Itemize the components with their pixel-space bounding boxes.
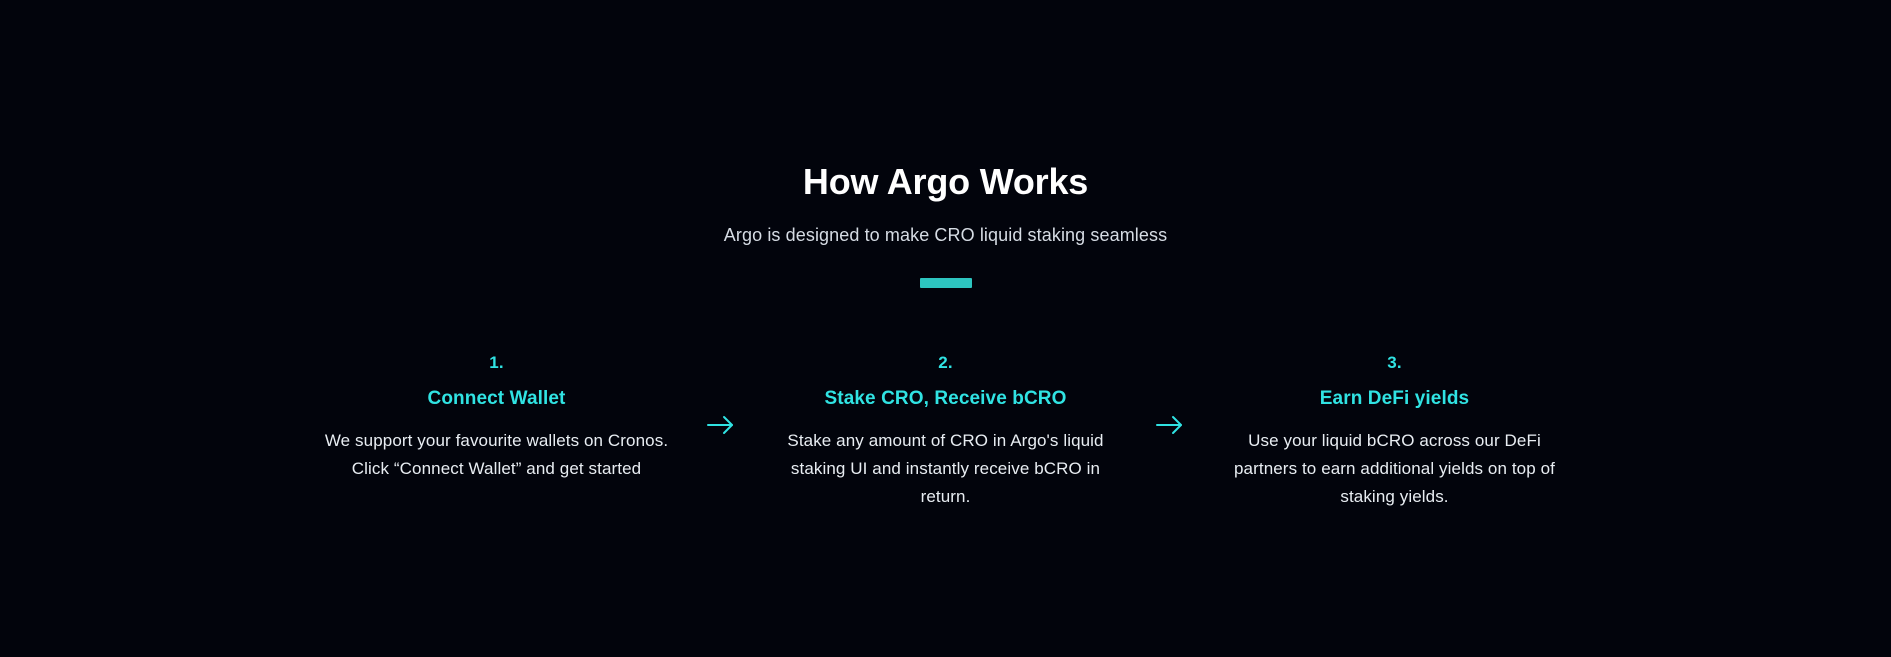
step-description-3: Use your liquid bCRO across our DeFi par… [1217,427,1572,511]
step-connector-2 [1123,352,1217,472]
page-title: How Argo Works [0,160,1891,204]
step-description-1: We support your favourite wallets on Cro… [319,427,674,483]
step-number-2: 2. [768,352,1123,374]
accent-divider-bar [920,278,972,288]
arrow-right-icon [706,414,736,436]
divider-wrapper [0,278,1891,288]
step-number-1: 1. [319,352,674,374]
step-title-2: Stake CRO, Receive bCRO [768,387,1123,411]
step-title-1: Connect Wallet [319,387,674,411]
page-subtitle: Argo is designed to make CRO liquid stak… [0,222,1891,248]
step-description-2: Stake any amount of CRO in Argo's liquid… [768,427,1123,511]
step-card-1: 1. Connect Wallet We support your favour… [319,352,674,483]
step-title-3: Earn DeFi yields [1217,387,1572,411]
how-it-works-section: How Argo Works Argo is designed to make … [0,0,1891,657]
step-number-3: 3. [1217,352,1572,374]
step-connector-1 [674,352,768,472]
step-card-3: 3. Earn DeFi yields Use your liquid bCRO… [1217,352,1572,511]
arrow-right-icon [1155,414,1185,436]
steps-row: 1. Connect Wallet We support your favour… [0,352,1891,511]
section-heading-block: How Argo Works Argo is designed to make … [0,160,1891,288]
step-card-2: 2. Stake CRO, Receive bCRO Stake any amo… [768,352,1123,511]
